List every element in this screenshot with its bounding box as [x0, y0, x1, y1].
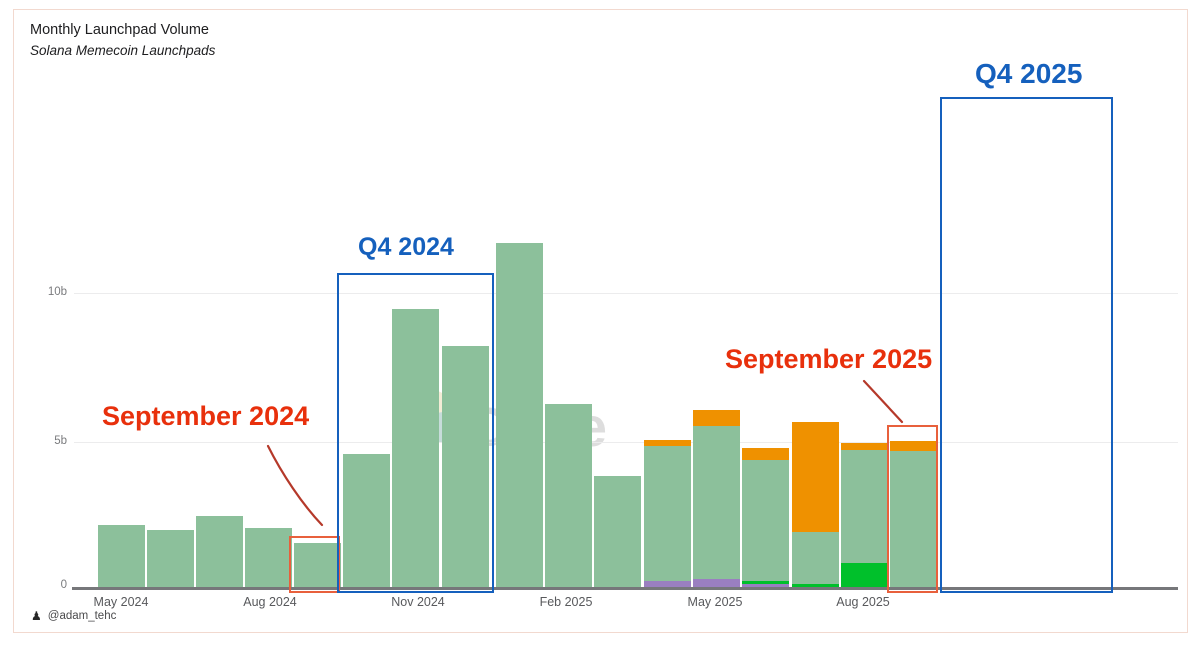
september-2024-arrow [264, 442, 334, 537]
september-2025-arrow [861, 378, 911, 428]
footer-credit: ♟ @adam_tehc [31, 610, 116, 622]
bar-segment [841, 563, 888, 587]
chart-bar[interactable] [594, 476, 641, 587]
bar-segment [98, 525, 145, 587]
chart-bar[interactable] [693, 410, 740, 587]
bar-segment [147, 530, 194, 587]
x-axis-tick-label: May 2025 [688, 595, 743, 609]
bar-segment [792, 532, 839, 584]
screenshot-root: Monthly Launchpad Volume Solana Memecoin… [0, 0, 1199, 646]
person-silhouette-icon: ♟ [31, 610, 42, 622]
bar-segment [644, 446, 691, 581]
chart-bar[interactable] [545, 404, 592, 587]
bar-segment [196, 516, 243, 587]
y-axis-tick-label: 0 [61, 579, 67, 591]
chart-bar[interactable] [792, 422, 839, 587]
chart-bar[interactable] [147, 530, 194, 587]
y-axis-tick-label: 10b [48, 286, 67, 298]
september-2024-red-box [289, 536, 340, 593]
x-axis-tick-label: May 2024 [94, 595, 149, 609]
bar-segment [693, 579, 740, 587]
chart-bar[interactable] [841, 443, 888, 587]
chart-bar[interactable] [742, 448, 789, 587]
y-axis-tick-label: 5b [54, 435, 67, 447]
september-2024-annotation: September 2024 [102, 401, 309, 432]
q4-2025-label: Q4 2025 [975, 58, 1082, 90]
bar-segment [742, 448, 789, 460]
x-axis-tick-label: Feb 2025 [540, 595, 593, 609]
bar-segment [742, 460, 789, 581]
bar-segment [841, 450, 888, 563]
september-2025-red-box [887, 425, 938, 593]
bar-segment [693, 410, 740, 426]
bar-segment [594, 476, 641, 587]
plot-area: Dune 10b5b0 May 2024Aug 2024Nov 2024Feb … [14, 10, 1189, 634]
author-handle: @adam_tehc [48, 610, 117, 622]
bar-segment [545, 404, 592, 587]
q4-2024-label: Q4 2024 [358, 233, 454, 262]
q4-2025-blue-box [940, 97, 1113, 593]
september-2025-annotation: September 2025 [725, 344, 932, 375]
chart-bar[interactable] [196, 516, 243, 587]
chart-card: Monthly Launchpad Volume Solana Memecoin… [13, 9, 1188, 633]
bar-segment [792, 422, 839, 532]
bar-segment [693, 426, 740, 579]
bar-segment [496, 243, 543, 587]
chart-bar[interactable] [496, 243, 543, 587]
bar-segment [841, 443, 888, 450]
x-axis-tick-label: Aug 2025 [836, 595, 890, 609]
x-axis-tick-label: Aug 2024 [243, 595, 297, 609]
q4-2024-blue-box [337, 273, 494, 593]
x-axis-tick-label: Nov 2024 [391, 595, 445, 609]
chart-bar[interactable] [98, 525, 145, 587]
chart-bar[interactable] [644, 440, 691, 587]
